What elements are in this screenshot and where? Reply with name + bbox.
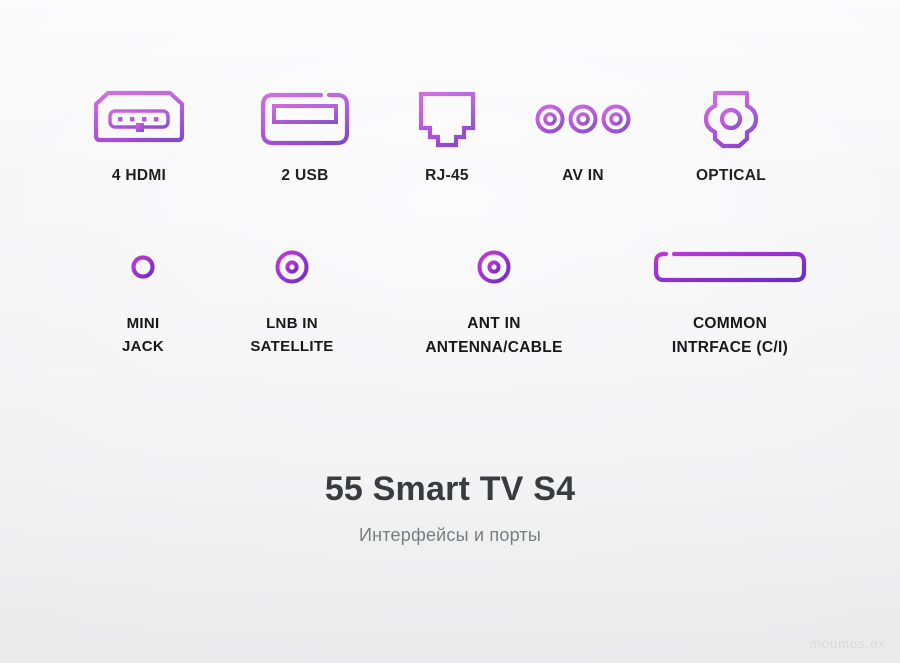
port-item-lnb-satellite: LNB IN SATELLITE (201, 236, 383, 359)
port-label: ANT IN ANTENNA/CABLE (403, 312, 585, 360)
port-item-common-interface: COMMON INTRFACE (C/I) (639, 236, 821, 360)
page-title: 55 Smart TV S4 (0, 470, 900, 509)
common-interface-slot-icon (639, 236, 821, 298)
hdmi-port-icon (48, 88, 230, 150)
page-subtitle: Интерфейсы и порты (0, 525, 900, 546)
port-label: 4 HDMI (48, 164, 230, 188)
port-item-optical: OPTICAL (640, 88, 822, 188)
lnb-coaxial-port-icon (201, 236, 383, 298)
optical-toslink-port-icon (640, 88, 822, 150)
port-item-hdmi: 4 HDMI (48, 88, 230, 188)
port-label: LNB IN SATELLITE (201, 312, 383, 359)
antenna-coaxial-port-icon (403, 236, 585, 298)
port-label: COMMON INTRFACE (C/I) (639, 312, 821, 360)
watermark: moumos.ox (810, 636, 886, 651)
infographic-page: 4 HDMI 2 USB RJ-45 (0, 0, 900, 663)
port-item-antenna: ANT IN ANTENNA/CABLE (403, 236, 585, 360)
port-label: OPTICAL (640, 164, 822, 188)
title-block: 55 Smart TV S4 Интерфейсы и порты (0, 470, 900, 546)
